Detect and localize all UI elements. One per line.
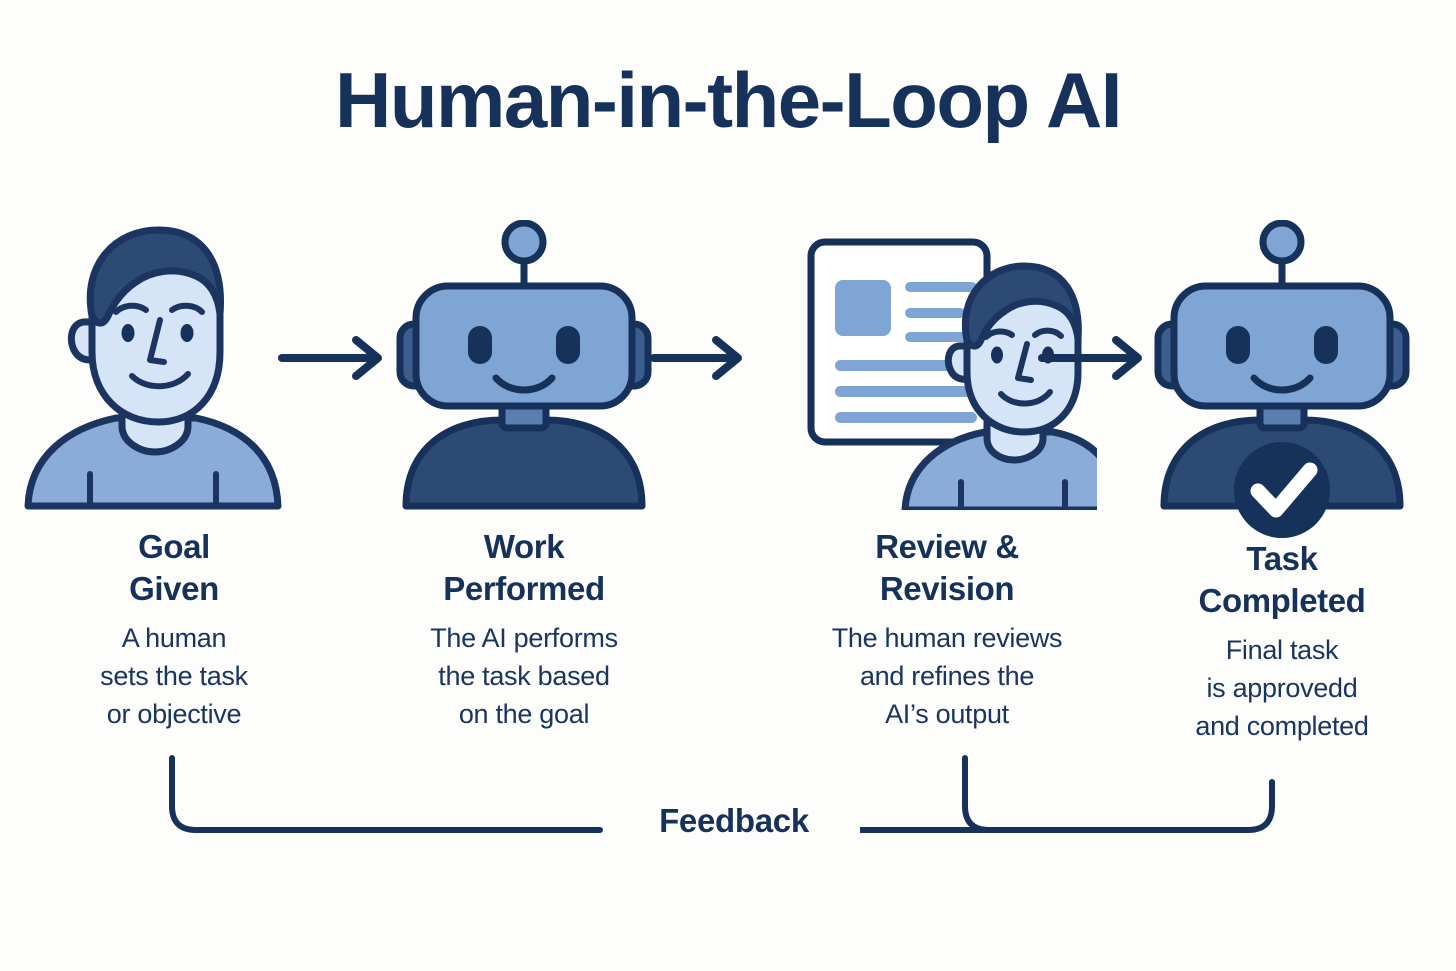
- step-description: The AI performs the task based on the go…: [374, 619, 674, 733]
- step-title: Goal Given: [24, 526, 324, 610]
- infographic-canvas: Human-in-the-Loop AI: [0, 0, 1456, 971]
- step-task-completed: Task Completed Final task is approvedd a…: [1132, 220, 1432, 745]
- robot-figure-icon: [374, 220, 674, 510]
- step-review-revision: Review & Revision The human reviews and …: [797, 220, 1097, 733]
- step-goal-given: Goal Given A human sets the task or obje…: [24, 220, 324, 733]
- step-description: A human sets the task or objective: [24, 619, 324, 733]
- feedback-label: Feedback: [608, 801, 860, 841]
- step-title: Review & Revision: [797, 526, 1097, 610]
- page-title: Human-in-the-Loop AI: [0, 57, 1456, 143]
- arrow-right-icon: [650, 336, 750, 385]
- step-title: Task Completed: [1132, 538, 1432, 622]
- robot-with-check-icon: [1132, 220, 1432, 510]
- step-work-performed: Work Performed The AI performs the task …: [374, 220, 674, 733]
- step-description: The human reviews and refines the AI’s o…: [797, 619, 1097, 733]
- feedback-loop-bracket: [0, 740, 1456, 860]
- document-card: [811, 242, 987, 442]
- step-description: Final task is approvedd and completed: [1132, 631, 1432, 745]
- check-badge-icon: [1234, 442, 1330, 538]
- step-title: Work Performed: [374, 526, 674, 610]
